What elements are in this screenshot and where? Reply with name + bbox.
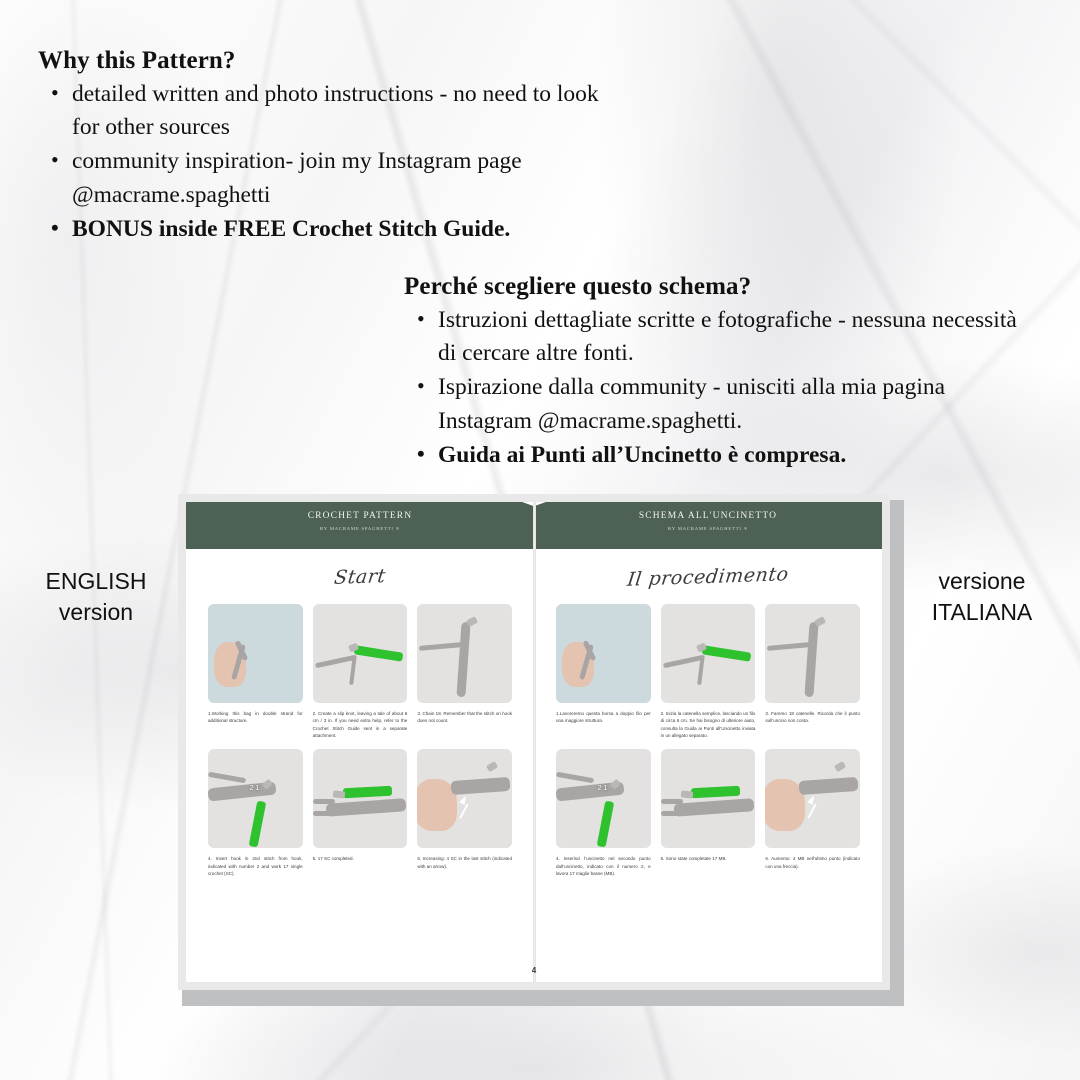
step-photo-it-5 — [661, 749, 756, 848]
script-title-left: Start — [206, 561, 514, 594]
version-label-english-line2: version — [22, 597, 170, 628]
crochet-hook-shape — [343, 786, 393, 798]
step-caption-it-4: 4. Inserisci l’uncinetto nel secondo pun… — [556, 855, 651, 877]
promo-heading-english: Why this Pattern? — [38, 46, 618, 76]
hook-tip-shape — [814, 616, 826, 627]
promo-bullet-it-2: Ispirazione dalla community - unisciti a… — [438, 371, 1034, 438]
promo-bullet-list-italian: Istruzioni dettagliate scritte e fotogra… — [404, 304, 1034, 473]
header-title-right: SCHEMA ALL'UNCINETTO — [534, 511, 882, 521]
version-label-english-line1: ENGLISH — [22, 566, 170, 597]
step-caption-en-5: 5. 17 SC completed. — [313, 855, 408, 862]
crochet-hook-shape — [249, 801, 266, 847]
step-cell-it-6: 6. Aumento: 4 MB nell’ultimo punto (indi… — [765, 749, 860, 877]
version-label-english: ENGLISH version — [22, 566, 170, 627]
step-caption-en-4: 4. Insert hook in 2nd stitch from hook, … — [208, 855, 303, 877]
hook-tip-shape — [834, 761, 846, 772]
promo-bullet-en-2: community inspiration- join my Instagram… — [72, 145, 618, 212]
step-caption-en-3: 3. Chain 18. Remember that the stitch on… — [417, 710, 512, 725]
promo-bullet-en-3: BONUS inside FREE Crochet Stitch Guide. — [72, 213, 618, 246]
page-left-english: Start 1.Working this bag in double stran… — [186, 549, 534, 982]
cord-shape — [556, 772, 594, 783]
promo-bullet-it-3: Guida ai Punti all’Uncinetto è compresa. — [438, 439, 1034, 472]
hook-tip-shape — [333, 790, 346, 798]
promo-bullet-it-1: Istruzioni dettagliate scritte e fotogra… — [438, 304, 1034, 371]
header-subtitle-right: BY MACRAME SPAGHETTI ® — [534, 526, 882, 531]
stitch-number-annotation: 2 1 — [250, 785, 260, 792]
cord-shape — [767, 642, 811, 651]
step-photo-en-5 — [313, 749, 408, 848]
photo-grid-left-row1: 1.Working this bag in double strand for … — [208, 604, 512, 739]
crochet-hook-shape — [597, 801, 614, 847]
promo-block-italian: Perché scegliere questo schema? Istruzio… — [404, 272, 1034, 473]
step-photo-en-2 — [313, 604, 408, 703]
chain-shape — [326, 798, 406, 816]
chain-shape — [799, 777, 858, 795]
step-cell-it-2: 2. Inizia la catenella semplice, lascian… — [661, 604, 756, 739]
step-photo-it-6 — [765, 749, 860, 848]
chain-shape — [451, 777, 510, 795]
booklet-mockup: CROCHET PATTERN BY MACRAME SPAGHETTI ® S… — [178, 494, 904, 1006]
step-cell-it-1: 1.Lavoreremo questa borsa a doppio filo … — [556, 604, 651, 739]
photo-grid-right-row1: 1.Lavoreremo questa borsa a doppio filo … — [556, 604, 860, 739]
step-cell-en-5: 5. 17 SC completed. — [313, 749, 408, 877]
promo-bullet-list-english: detailed written and photo instructions … — [38, 78, 618, 247]
version-label-italian: versione ITALIANA — [904, 566, 1060, 627]
header-left: CROCHET PATTERN BY MACRAME SPAGHETTI ® — [186, 502, 534, 549]
photo-grid-right-row2: 2 1 4. Inserisci l’uncinetto nel secondo… — [556, 749, 860, 877]
step-caption-it-5: 5. Sono state completate 17 MB. — [661, 855, 756, 862]
step-caption-it-6: 6. Aumento: 4 MB nell’ultimo punto (indi… — [765, 855, 860, 870]
cord-shape — [313, 799, 336, 804]
page-right-italian: Il procedimento 1.Lavoreremo questa bors… — [534, 549, 882, 982]
chain-shape — [456, 622, 470, 698]
step-photo-it-2 — [661, 604, 756, 703]
arrow-shaft — [460, 803, 469, 818]
step-photo-en-3 — [417, 604, 512, 703]
crochet-hook-shape — [354, 645, 404, 661]
arrow-shaft — [808, 803, 817, 818]
step-cell-it-4: 2 1 4. Inserisci l’uncinetto nel secondo… — [556, 749, 651, 877]
step-photo-en-6 — [417, 749, 512, 848]
step-cell-en-2: 2. Create a slip knot, leaving a tale of… — [313, 604, 408, 739]
promo-bullet-en-1: detailed written and photo instructions … — [72, 78, 618, 145]
step-photo-it-4: 2 1 — [556, 749, 651, 848]
step-caption-en-1: 1.Working this bag in double strand for … — [208, 710, 303, 725]
script-title-right: Il procedimento — [554, 561, 862, 594]
step-photo-it-1 — [556, 604, 651, 703]
page-number: 4 — [186, 966, 882, 975]
step-caption-it-1: 1.Lavoreremo questa borsa a doppio filo … — [556, 710, 651, 725]
cord-shape — [662, 655, 704, 668]
promo-heading-italian: Perché scegliere questo schema? — [404, 272, 1034, 302]
booklet-pages: CROCHET PATTERN BY MACRAME SPAGHETTI ® S… — [186, 502, 882, 982]
step-caption-it-2: 2. Inizia la catenella semplice, lascian… — [661, 710, 756, 739]
step-cell-en-3: 3. Chain 18. Remember that the stitch on… — [417, 604, 512, 739]
step-photo-it-3 — [765, 604, 860, 703]
step-cell-en-1: 1.Working this bag in double strand for … — [208, 604, 303, 739]
step-caption-it-3: 3. Faremo 18 catenelle. Ricorda che il p… — [765, 710, 860, 725]
version-label-italian-line1: versione — [904, 566, 1060, 597]
chain-shape — [674, 798, 754, 816]
crochet-hook-shape — [691, 786, 741, 798]
stitch-number-annotation: 2 1 — [598, 785, 608, 792]
step-cell-it-3: 3. Faremo 18 catenelle. Ricorda che il p… — [765, 604, 860, 739]
header-subtitle-left: BY MACRAME SPAGHETTI ® — [186, 526, 534, 531]
chain-shape — [804, 622, 818, 698]
cord-shape — [314, 655, 356, 668]
photo-grid-left-row2: 2 1 4. Insert hook in 2nd stitch from ho… — [208, 749, 512, 877]
step-caption-en-6: 6. Increasing: 4 SC in the last stitch (… — [417, 855, 512, 870]
version-label-italian-line2: ITALIANA — [904, 597, 1060, 628]
hook-tip-shape — [681, 790, 694, 798]
crochet-hook-shape — [702, 645, 752, 661]
cord-shape — [208, 772, 246, 783]
step-cell-en-6: 6. Increasing: 4 SC in the last stitch (… — [417, 749, 512, 877]
header-right: SCHEMA ALL'UNCINETTO BY MACRAME SPAGHETT… — [534, 502, 882, 549]
step-cell-it-5: 5. Sono state completate 17 MB. — [661, 749, 756, 877]
step-cell-en-4: 2 1 4. Insert hook in 2nd stitch from ho… — [208, 749, 303, 877]
hook-tip-shape — [466, 616, 478, 627]
cord-shape — [661, 811, 684, 816]
step-photo-en-1 — [208, 604, 303, 703]
cord-shape — [419, 642, 463, 651]
hook-tip-shape — [486, 761, 498, 772]
header-title-left: CROCHET PATTERN — [186, 511, 534, 521]
cord-shape — [313, 811, 336, 816]
step-caption-en-2: 2. Create a slip knot, leaving a tale of… — [313, 710, 408, 739]
cord-shape — [661, 799, 684, 804]
step-photo-en-4: 2 1 — [208, 749, 303, 848]
promo-block-english: Why this Pattern? detailed written and p… — [38, 46, 618, 247]
